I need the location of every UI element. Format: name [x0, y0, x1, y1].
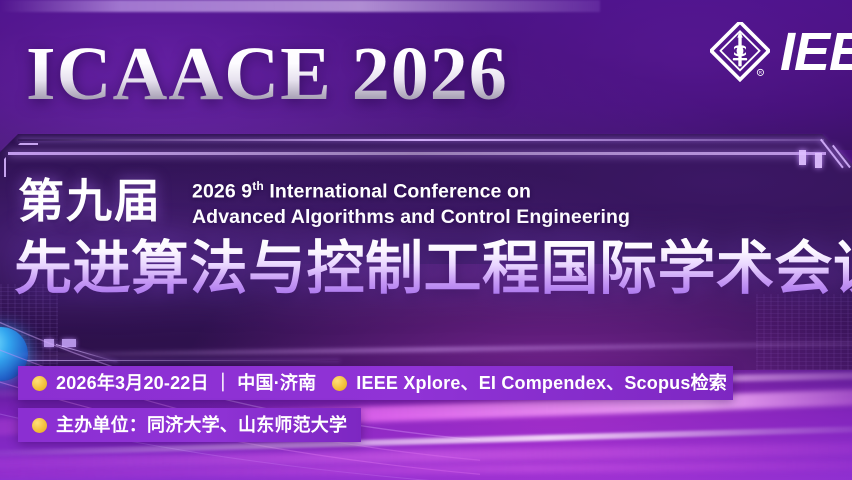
edition-label: 第九届 — [18, 178, 162, 224]
hud-tick-mark-2 — [815, 153, 822, 168]
info-item-date-location: 2026年3月20-22日 ｜ 中国·济南 — [32, 374, 316, 392]
english-title-line1: 2026 9th International Conference on — [192, 178, 630, 205]
english-title-line1-prefix: 2026 9 — [192, 181, 252, 203]
bullet-dot-icon — [332, 376, 347, 391]
hud-bracket-mark-1 — [44, 339, 54, 347]
bullet-dot-icon — [32, 418, 47, 433]
page-title: ICAACE 2026 — [26, 36, 508, 112]
hud-glow-bar — [0, 0, 600, 12]
light-streak-6 — [0, 460, 852, 479]
info-bar-primary: 2026年3月20-22日 ｜ 中国·济南 IEEE Xplore、EI Com… — [18, 366, 733, 400]
organizers-text: 主办单位：同济大学、山东师范大学 — [56, 416, 347, 434]
hud-frame-line-top — [18, 139, 824, 141]
hud-tick-mark-1 — [799, 150, 806, 165]
hud-frame-line-top-secondary — [8, 152, 826, 155]
ieee-logo: R IEE — [710, 22, 852, 82]
ordinal-suffix: th — [252, 179, 264, 193]
svg-text:R: R — [759, 70, 762, 75]
date-location-text: 2026年3月20-22日 ｜ 中国·济南 — [56, 374, 316, 392]
indexing-text: IEEE Xplore、EI Compendex、Scopus检索 — [356, 374, 727, 392]
ieee-wordmark: IEE — [780, 25, 852, 79]
info-bar-secondary: 主办单位：同济大学、山东师范大学 — [18, 408, 361, 442]
english-title-line2: Advanced Algorithms and Control Engineer… — [192, 205, 630, 231]
bullet-dot-icon — [32, 376, 47, 391]
info-item-organizers: 主办单位：同济大学、山东师范大学 — [32, 416, 347, 434]
info-item-indexing: IEEE Xplore、EI Compendex、Scopus检索 — [332, 374, 727, 392]
light-streak-4 — [0, 442, 852, 471]
hud-frame-line-bottom — [0, 360, 340, 361]
data-grid-texture-right — [756, 294, 852, 454]
english-title: 2026 9th International Conference on Adv… — [192, 178, 630, 231]
chinese-title: 先进算法与控制工程国际学术会议 — [14, 238, 852, 299]
conference-banner: ICAACE 2026 R IEE 第九届 2026 9th Internati… — [0, 0, 852, 480]
english-title-line1-rest: International Conference on — [264, 181, 531, 203]
ieee-diamond-icon: R — [710, 22, 770, 82]
